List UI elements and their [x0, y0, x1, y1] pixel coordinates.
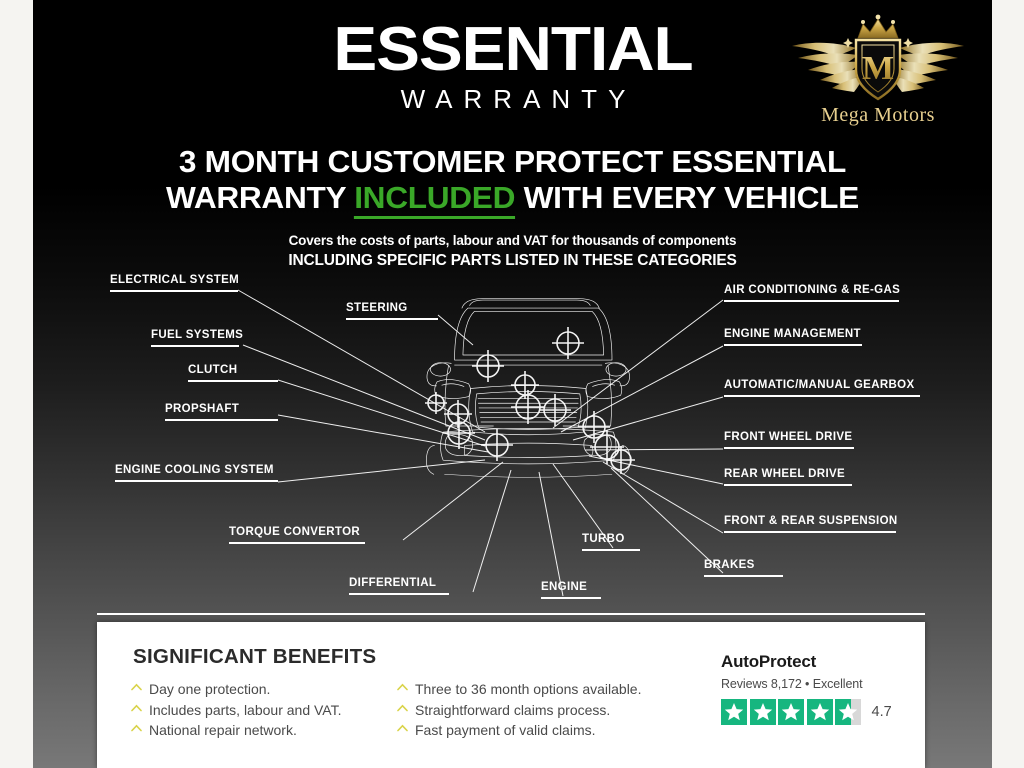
- chevron-up-icon: [131, 704, 142, 715]
- label-rule: [704, 575, 783, 577]
- diagram-label-turbo: TURBO: [582, 533, 640, 551]
- diagram-label-text: ENGINE MANAGEMENT: [724, 328, 861, 340]
- diagram-label-text: AUTOMATIC/MANUAL GEARBOX: [724, 379, 914, 391]
- chevron-up-icon: [397, 683, 408, 694]
- trustpilot-rating: AutoProtect Reviews 8,172 • Excellent: [721, 652, 892, 725]
- star-icon: [807, 699, 833, 725]
- label-rule: [346, 318, 438, 320]
- diagram-label-engine: ENGINE: [541, 581, 601, 599]
- diagram-label-text: DIFFERENTIAL: [349, 577, 436, 589]
- diagram-label-text: TORQUE CONVERTOR: [229, 526, 360, 538]
- benefit-text: Three to 36 month options available.: [415, 681, 641, 697]
- diagram-label-steering: STEERING: [346, 302, 438, 320]
- rating-score: 4.7: [872, 704, 892, 720]
- diagram-label-clutch: CLUTCH: [188, 364, 278, 382]
- diagram-label-text: STEERING: [346, 302, 408, 314]
- label-rule: [724, 395, 920, 397]
- benefit-text: Fast payment of valid claims.: [415, 722, 596, 738]
- label-rule: [349, 593, 449, 595]
- benefit-text: Straightforward claims process.: [415, 702, 610, 718]
- diagram-label-text: REAR WHEEL DRIVE: [724, 468, 845, 480]
- coverage-diagram: ELECTRICAL SYSTEM FUEL SYSTEMS CLUTCH PR…: [33, 0, 992, 625]
- benefits-card: SIGNIFICANT BENEFITS Day one protection.…: [97, 622, 925, 768]
- chevron-up-icon: [397, 724, 408, 735]
- label-rule: [165, 419, 278, 421]
- label-rule: [724, 531, 896, 533]
- benefit-item: Straightforward claims process.: [397, 700, 697, 721]
- benefit-item: Fast payment of valid claims.: [397, 720, 697, 741]
- benefit-text: Day one protection.: [149, 681, 270, 697]
- benefits-column-2: Three to 36 month options available. Str…: [397, 679, 697, 741]
- label-rule: [724, 344, 862, 346]
- diagram-label-engine-management: ENGINE MANAGEMENT: [724, 328, 862, 346]
- benefit-item: Three to 36 month options available.: [397, 679, 697, 700]
- label-rule: [541, 597, 601, 599]
- reviews-summary: Reviews 8,172 • Excellent: [721, 677, 892, 691]
- label-rule: [115, 480, 278, 482]
- diagram-label-text: ENGINE COOLING SYSTEM: [115, 464, 274, 476]
- diagram-label-torque-convertor: TORQUE CONVERTOR: [229, 526, 365, 544]
- benefit-item: Includes parts, labour and VAT.: [131, 700, 401, 721]
- chevron-up-icon: [397, 704, 408, 715]
- diagram-label-air-conditioning: AIR CONDITIONING & RE-GAS: [724, 284, 899, 302]
- diagram-label-text: ENGINE: [541, 581, 587, 593]
- star-rating: 4.7: [721, 699, 892, 725]
- diagram-label-text: BRAKES: [704, 559, 755, 571]
- star-icon: [778, 699, 804, 725]
- diagram-label-fuel-systems: FUEL SYSTEMS: [151, 329, 239, 347]
- diagram-label-gearbox: AUTOMATIC/MANUAL GEARBOX: [724, 379, 920, 397]
- diagram-label-text: ELECTRICAL SYSTEM: [110, 274, 239, 286]
- autoprotect-brand: AutoProtect: [721, 652, 892, 672]
- label-rule: [582, 549, 640, 551]
- benefit-item: Day one protection.: [131, 679, 401, 700]
- diagram-label-text: FRONT & REAR SUSPENSION: [724, 515, 898, 527]
- label-rule: [151, 345, 239, 347]
- leader-lines: [238, 290, 723, 596]
- label-rule: [724, 484, 852, 486]
- diagram-label-front-wheel-drive: FRONT WHEEL DRIVE: [724, 431, 854, 449]
- poster-canvas: ESSENTIAL WARRANTY: [0, 0, 1024, 768]
- car-outline: [426, 299, 630, 478]
- diagram-label-text: CLUTCH: [188, 364, 237, 376]
- star-icon-half: [835, 699, 861, 725]
- benefit-item: National repair network.: [131, 720, 401, 741]
- label-rule: [110, 290, 238, 292]
- diagram-label-differential: DIFFERENTIAL: [349, 577, 449, 595]
- label-rule: [724, 300, 899, 302]
- star-icon: [721, 699, 747, 725]
- diagram-label-engine-cooling-system: ENGINE COOLING SYSTEM: [115, 464, 278, 482]
- diagram-label-text: FUEL SYSTEMS: [151, 329, 243, 341]
- diagram-label-propshaft: PROPSHAFT: [165, 403, 278, 421]
- warranty-poster: ESSENTIAL WARRANTY: [33, 0, 992, 768]
- diagram-label-text: TURBO: [582, 533, 625, 545]
- label-rule: [229, 542, 365, 544]
- benefits-column-1: Day one protection. Includes parts, labo…: [131, 679, 401, 741]
- benefit-text: Includes parts, labour and VAT.: [149, 702, 341, 718]
- diagram-label-text: PROPSHAFT: [165, 403, 239, 415]
- label-rule: [724, 447, 854, 449]
- diagram-label-electrical-system: ELECTRICAL SYSTEM: [110, 274, 238, 292]
- diagram-label-suspension: FRONT & REAR SUSPENSION: [724, 515, 896, 533]
- benefit-text: National repair network.: [149, 722, 297, 738]
- benefits-title: SIGNIFICANT BENEFITS: [133, 646, 376, 669]
- chevron-up-icon: [131, 724, 142, 735]
- diagram-label-text: FRONT WHEEL DRIVE: [724, 431, 852, 443]
- diagram-label-text: AIR CONDITIONING & RE-GAS: [724, 284, 900, 296]
- diagram-label-rear-wheel-drive: REAR WHEEL DRIVE: [724, 468, 852, 486]
- diagram-label-brakes: BRAKES: [704, 559, 783, 577]
- chevron-up-icon: [131, 683, 142, 694]
- star-icon: [750, 699, 776, 725]
- section-divider: [97, 613, 925, 615]
- label-rule: [188, 380, 278, 382]
